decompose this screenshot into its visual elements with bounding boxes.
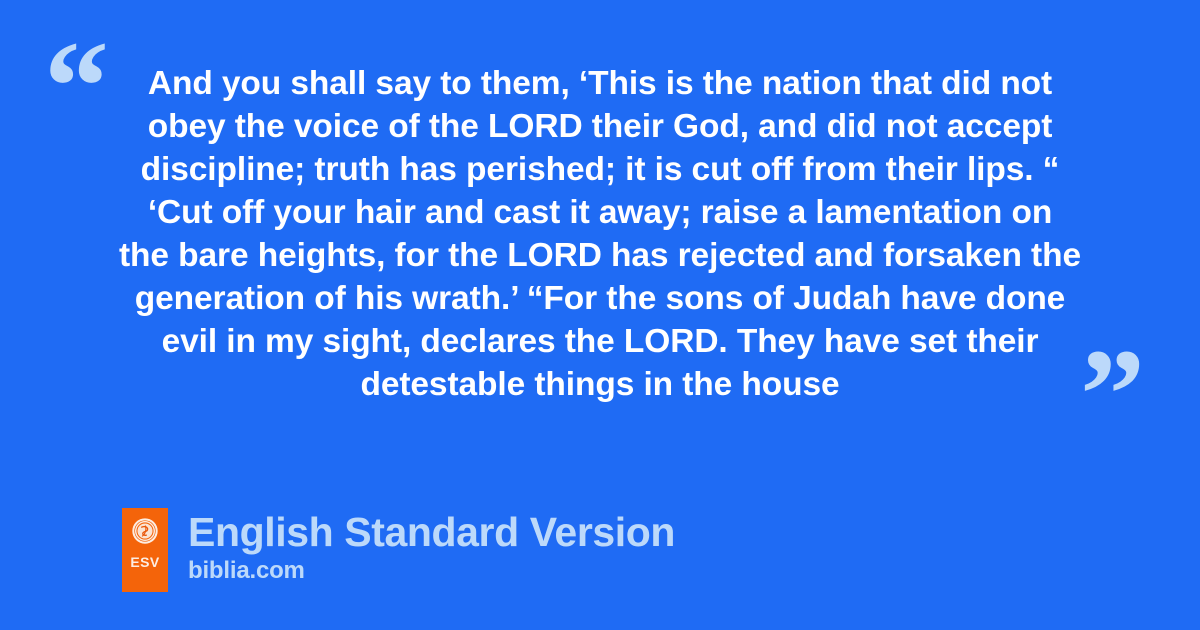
attribution-text: English Standard Version biblia.com <box>188 508 675 585</box>
quote-line: generation of his wrath.’ “For the sons … <box>100 277 1100 320</box>
esv-seal-icon <box>131 517 159 545</box>
quote-line: evil in my sight, declares the LORD. The… <box>100 320 1100 363</box>
quote-line: ‘Cut off your hair and cast it away; rai… <box>100 191 1100 234</box>
quote-text-block: And you shall say to them, ‘This is the … <box>100 62 1100 406</box>
esv-badge-label: ESV <box>130 555 159 569</box>
quote-line: And you shall say to them, ‘This is the … <box>100 62 1100 105</box>
quote-line: detestable things in the house <box>100 363 1100 406</box>
verse-image-card: “ ” And you shall say to them, ‘This is … <box>0 0 1200 630</box>
attribution: ESV English Standard Version biblia.com <box>122 508 675 592</box>
quote-line: discipline; truth has perished; it is cu… <box>100 148 1100 191</box>
quote-line: the bare heights, for the LORD has rejec… <box>100 234 1100 277</box>
site-url[interactable]: biblia.com <box>188 557 675 585</box>
quote-line: obey the voice of the LORD their God, an… <box>100 105 1100 148</box>
bible-version-name: English Standard Version <box>188 509 675 555</box>
opening-quote-mark: “ <box>44 22 107 152</box>
esv-badge: ESV <box>122 508 168 592</box>
